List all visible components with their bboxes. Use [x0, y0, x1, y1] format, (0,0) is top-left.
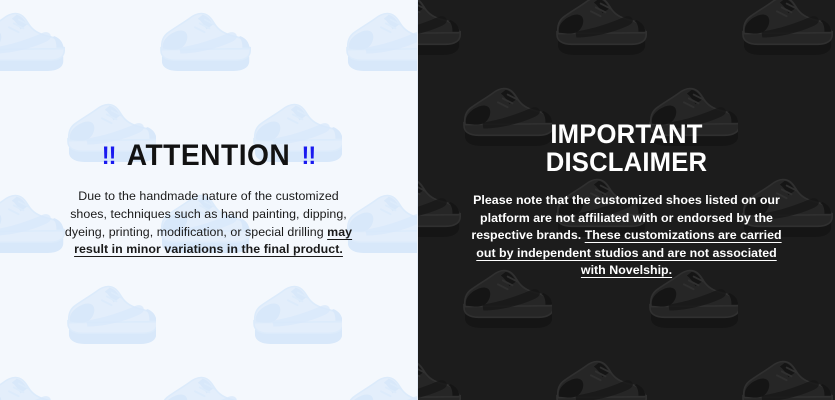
disclaimer-body: Please note that the customized shoes li…	[471, 192, 783, 280]
disclaimer-banner: !!ATTENTION!! Due to the handmade nature…	[0, 0, 835, 400]
disclaimer-heading-line2: DISCLAIMER	[453, 148, 800, 176]
attention-heading-title: ATTENTION	[127, 141, 291, 171]
attention-body: Due to the handmade nature of the custom…	[59, 188, 359, 258]
attention-heading: !!ATTENTION!!	[37, 141, 380, 171]
attention-panel-content: !!ATTENTION!! Due to the handmade nature…	[0, 141, 417, 258]
exclamation-left-icon: !!	[102, 144, 116, 169]
disclaimer-panel-content: IMPORTANT DISCLAIMER Please note that th…	[418, 120, 835, 280]
disclaimer-heading-line1: IMPORTANT	[453, 120, 800, 148]
exclamation-right-icon: !!	[302, 144, 316, 169]
attention-panel: !!ATTENTION!! Due to the handmade nature…	[0, 0, 418, 400]
disclaimer-heading: IMPORTANT DISCLAIMER	[453, 120, 800, 176]
disclaimer-panel: IMPORTANT DISCLAIMER Please note that th…	[418, 0, 835, 400]
attention-body-normal: Due to the handmade nature of the custom…	[65, 189, 347, 238]
